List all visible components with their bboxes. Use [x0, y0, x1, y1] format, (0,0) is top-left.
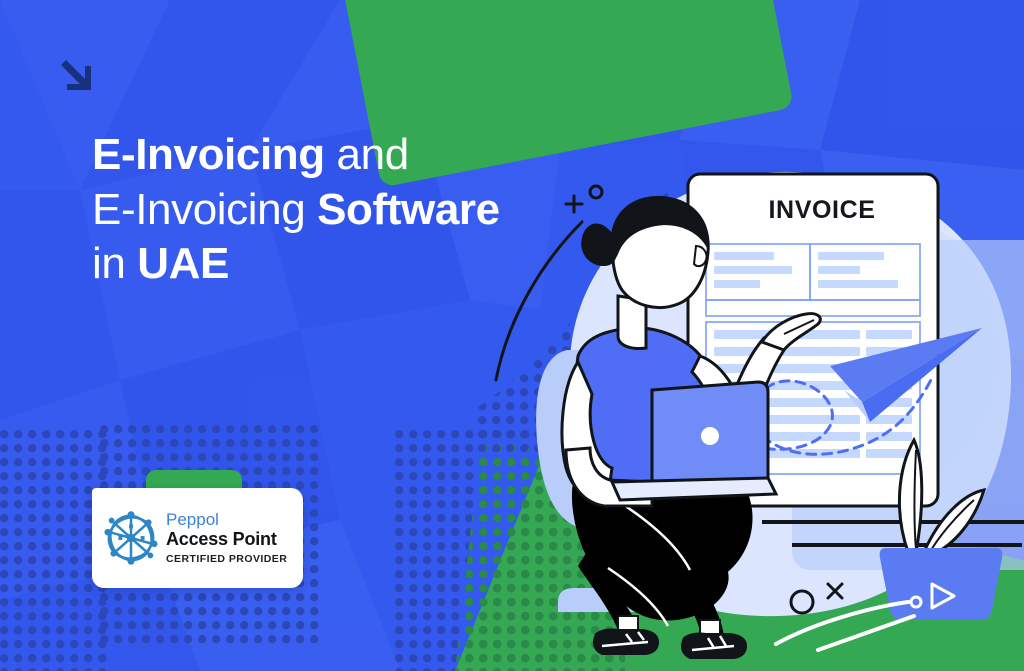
headline-line-3-rest: in [92, 239, 137, 288]
woman-with-laptop-and-invoice-illustration [462, 150, 1024, 671]
shoe-left [594, 630, 658, 655]
badge-brand: Peppol [166, 510, 287, 530]
headline-line-2-rest: E-Invoicing [92, 185, 317, 234]
badge-subtitle: CERTIFIED PROVIDER [166, 553, 287, 566]
headline-line-1-bold: E-Invoicing [92, 130, 325, 179]
invoice-title: INVOICE [742, 196, 902, 225]
peppol-network-globe-icon [100, 507, 162, 569]
decoration-sparkle-top [566, 186, 602, 212]
plant-pot [880, 548, 1003, 620]
badge-title: Access Point [166, 529, 287, 551]
peppol-access-point-badge[interactable]: Peppol Access Point CERTIFIED PROVIDER [92, 470, 307, 592]
laptop-logo [701, 427, 719, 445]
headline-line-3-bold: UAE [137, 239, 229, 288]
badge-card[interactable]: Peppol Access Point CERTIFIED PROVIDER [92, 488, 303, 588]
hero-banner: E-Invoicing and E-Invoicing Software in … [0, 0, 1024, 671]
arrow-down-right-icon [55, 55, 95, 95]
headline-line-1-rest: and [325, 130, 409, 179]
